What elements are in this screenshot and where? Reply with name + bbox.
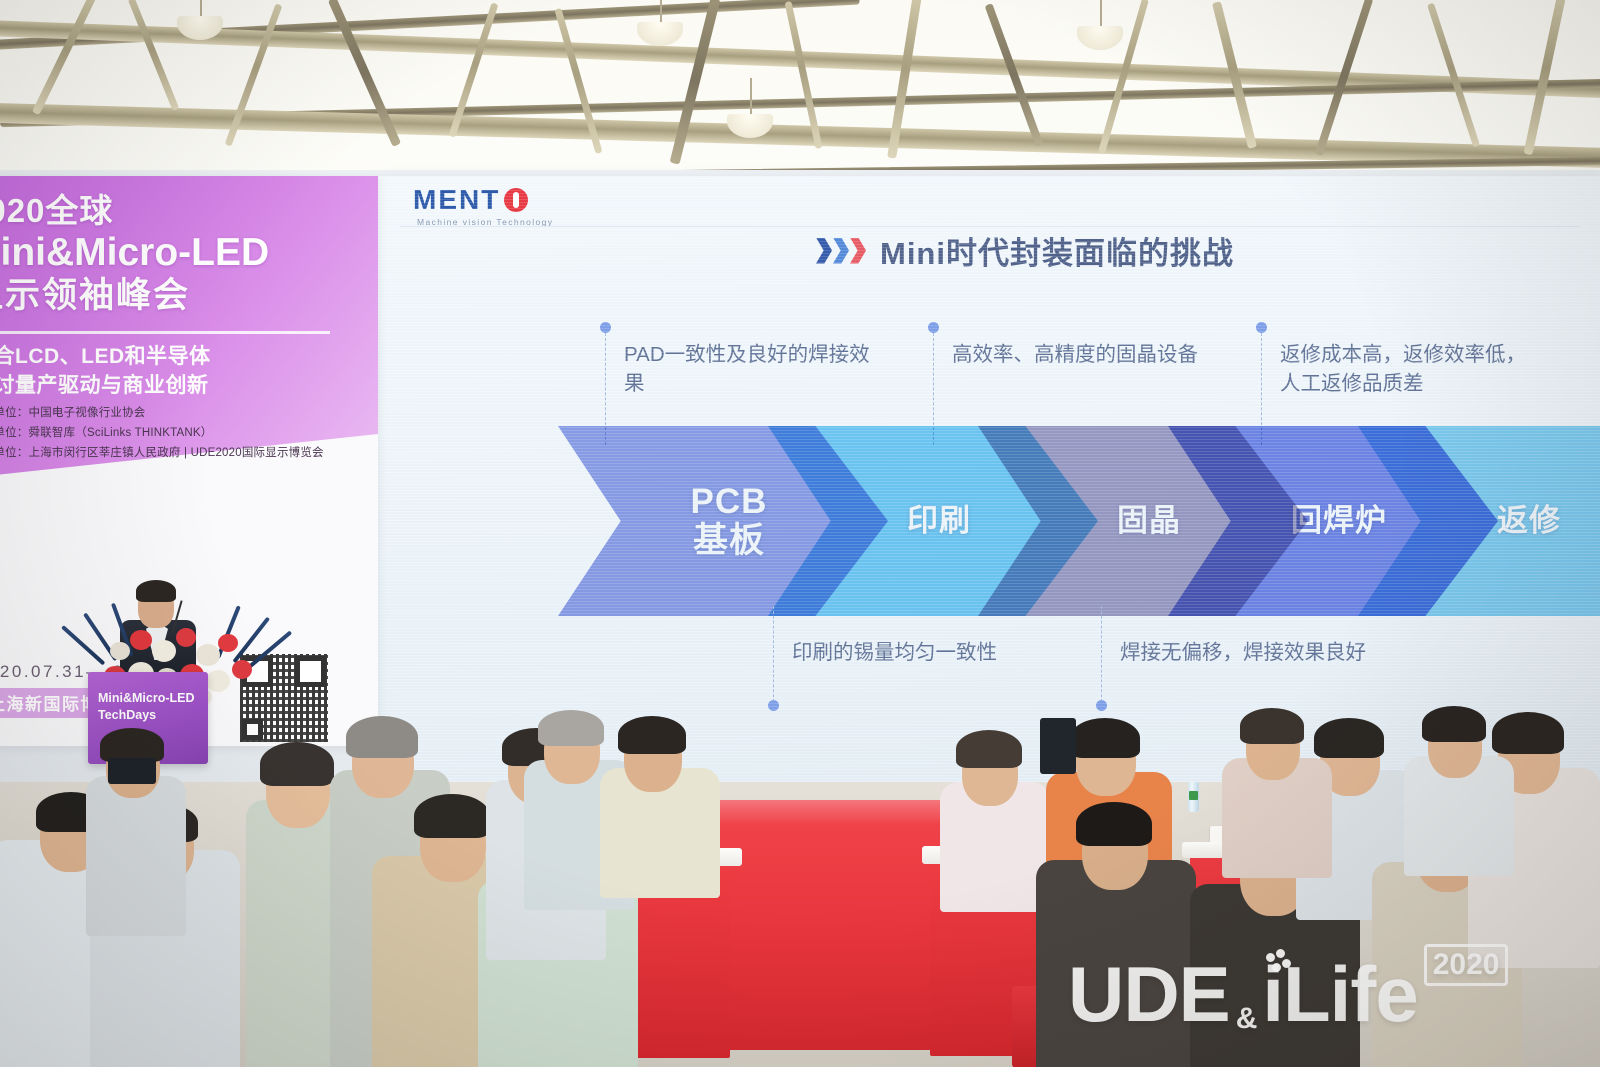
banner-org-line3: 承办单位：上海市闵行区莘庄镇人民政府 | UDE2020国际显示博览会 <box>0 444 370 464</box>
watermark-sub-wrap: iLife <box>1262 949 1417 1040</box>
banner-org-line2: 主办单位：舜联智库（SciLinks THINKTANK） <box>0 424 370 444</box>
mento-o-mark <box>504 188 528 212</box>
header-divider <box>400 226 1580 227</box>
podium-text-line1: Mini&Micro-LED <box>98 690 195 707</box>
chevrons-icon <box>816 238 866 264</box>
water-bottle <box>1188 782 1199 812</box>
callout-text: 焊接无偏移，焊接效果良好 <box>1120 638 1376 667</box>
watermark-brand: UDE <box>1068 949 1230 1040</box>
watermark-amp: & <box>1236 1002 1257 1036</box>
banner-title-line2: Mini&Micro-LED <box>0 230 378 275</box>
banner-title-line1: 2020全球 <box>0 192 378 230</box>
mento-logo: MENT Machine vision Technology <box>413 184 613 227</box>
slide-title-group: Mini时代封装面临的挑战 <box>816 228 1234 273</box>
smartphone-icon <box>108 758 156 784</box>
presentation-screen: MENT Machine vision Technology Mini时代封装面… <box>378 176 1600 788</box>
banner-subtitle-line2: 探讨量产驱动与商业创新 <box>0 371 372 400</box>
callout-text: 高效率、高精度的固晶设备 <box>952 340 1208 369</box>
callout-text: 印刷的锡量均匀一致性 <box>792 638 1050 667</box>
process-flow: PCB基板 印刷 固晶 回焊炉 返修 <box>378 426 1600 616</box>
conference-photo-scene: MENT Machine vision Technology Mini时代封装面… <box>0 0 1600 1067</box>
ude-ilife-watermark: UDE & iLife 2020 <box>1068 938 1568 1050</box>
banner-title-line3: 显示领袖峰会 <box>0 276 378 317</box>
mento-wordmark: MENT <box>413 184 500 216</box>
watermark-year: 2020 <box>1424 944 1509 986</box>
podium-text-line2: TechDays <box>98 707 195 724</box>
callout-text: 返修成本高，返修效率低，人工返修品质差 <box>1280 340 1538 398</box>
flower-dots-icon <box>1266 953 1292 973</box>
callout-text: PAD一致性及良好的焊接效果 <box>624 340 882 398</box>
banner-subtitle-line1: 整合LCD、LED和半导体 <box>0 342 372 371</box>
banner-org-line1: 指导单位：中国电子视像行业协会 <box>0 404 370 424</box>
slide-title: Mini时代封装面临的挑战 <box>880 228 1234 273</box>
tablet-device <box>1040 718 1076 774</box>
